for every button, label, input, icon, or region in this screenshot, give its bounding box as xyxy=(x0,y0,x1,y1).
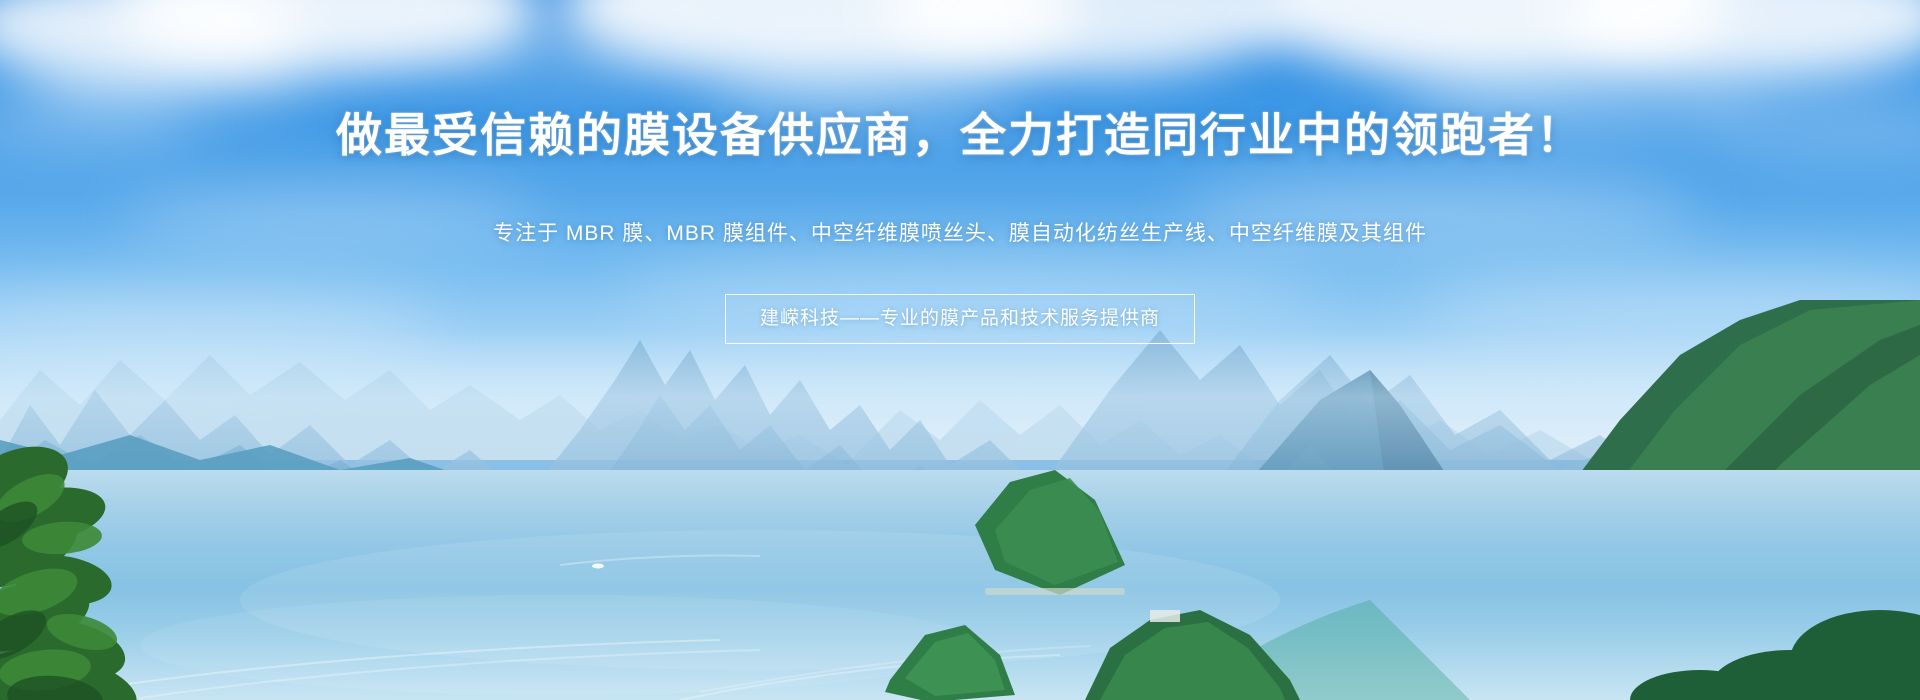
hero-tagline-box: 建嵘科技——专业的膜产品和技术服务提供商 xyxy=(725,294,1195,344)
hero-headline: 做最受信赖的膜设备供应商，全力打造同行业中的领跑者！ xyxy=(0,104,1920,166)
hero-subheadline: 专注于 MBR 膜、MBR 膜组件、中空纤维膜喷丝头、膜自动化纺丝生产线、中空纤… xyxy=(0,218,1920,250)
foreground-foliage-right xyxy=(0,560,1920,700)
hero-tagline-wrapper: 建嵘科技——专业的膜产品和技术服务提供商 xyxy=(0,294,1920,344)
hero-banner: 做最受信赖的膜设备供应商，全力打造同行业中的领跑者！ 专注于 MBR 膜、MBR… xyxy=(0,0,1920,700)
